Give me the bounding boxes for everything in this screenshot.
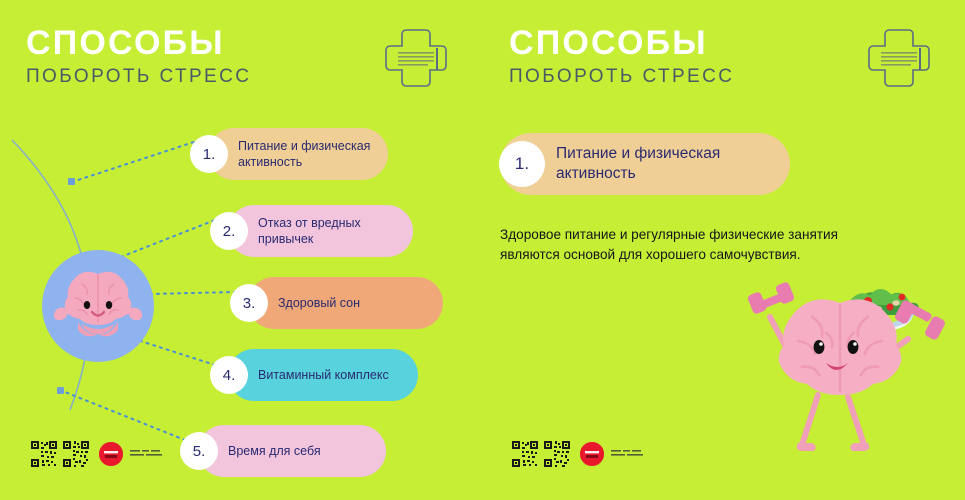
list-item[interactable]: 3. Здоровый сон: [248, 277, 443, 329]
item-number: 5.: [180, 432, 218, 470]
list-item[interactable]: 5. Время для себя: [198, 425, 386, 477]
brain-with-dumbbells-and-salad-icon: [740, 255, 955, 460]
item-number: 2.: [210, 212, 248, 250]
slide-left: СПОСОБЫ ПОБОРОТЬ СТРЕСС: [0, 0, 482, 500]
item-number: 4.: [210, 356, 248, 394]
page-subtitle: ПОБОРОТЬ СТРЕСС: [26, 67, 251, 86]
red-round-logo-icon: [580, 442, 604, 466]
page-title: СПОСОБЫ: [26, 26, 251, 60]
featured-list-item[interactable]: 1. Питание и физическая активность: [500, 133, 790, 195]
brain-circle-background: [42, 250, 154, 362]
page-title: СПОСОБЫ: [509, 26, 734, 60]
logo-caption-lines: [611, 447, 647, 461]
item-number: 1.: [190, 135, 228, 173]
red-round-logo-icon: [99, 442, 123, 466]
header-left: СПОСОБЫ ПОБОРОТЬ СТРЕСС: [26, 26, 251, 86]
item-label: Время для себя: [198, 443, 337, 460]
footer-logo-block-right: [511, 440, 647, 468]
meditating-brain-icon: [42, 250, 154, 362]
list-item[interactable]: 1. Питание и физическая активность: [208, 128, 388, 180]
logo-caption-lines: [130, 447, 166, 461]
item-label: Питание и физическая активность: [208, 138, 388, 171]
medical-cross-icon: [384, 28, 448, 88]
item-label: Витаминный комплекс: [228, 367, 405, 384]
medical-cross-icon: [867, 28, 931, 88]
page-subtitle: ПОБОРОТЬ СТРЕСС: [509, 67, 734, 86]
qr-code-icon[interactable]: [62, 440, 90, 468]
qr-code-icon[interactable]: [30, 440, 58, 468]
item-number: 3.: [230, 284, 268, 322]
featured-item-number: 1.: [499, 141, 545, 187]
list-item[interactable]: 4. Витаминный комплекс: [228, 349, 418, 401]
qr-code-icon[interactable]: [543, 440, 571, 468]
header-right: СПОСОБЫ ПОБОРОТЬ СТРЕСС: [509, 26, 734, 86]
qr-code-icon[interactable]: [511, 440, 539, 468]
footer-logo-block-left: [30, 440, 166, 468]
item-label: Отказ от вредных привычек: [228, 215, 413, 248]
list-item[interactable]: 2. Отказ от вредных привычек: [228, 205, 413, 257]
